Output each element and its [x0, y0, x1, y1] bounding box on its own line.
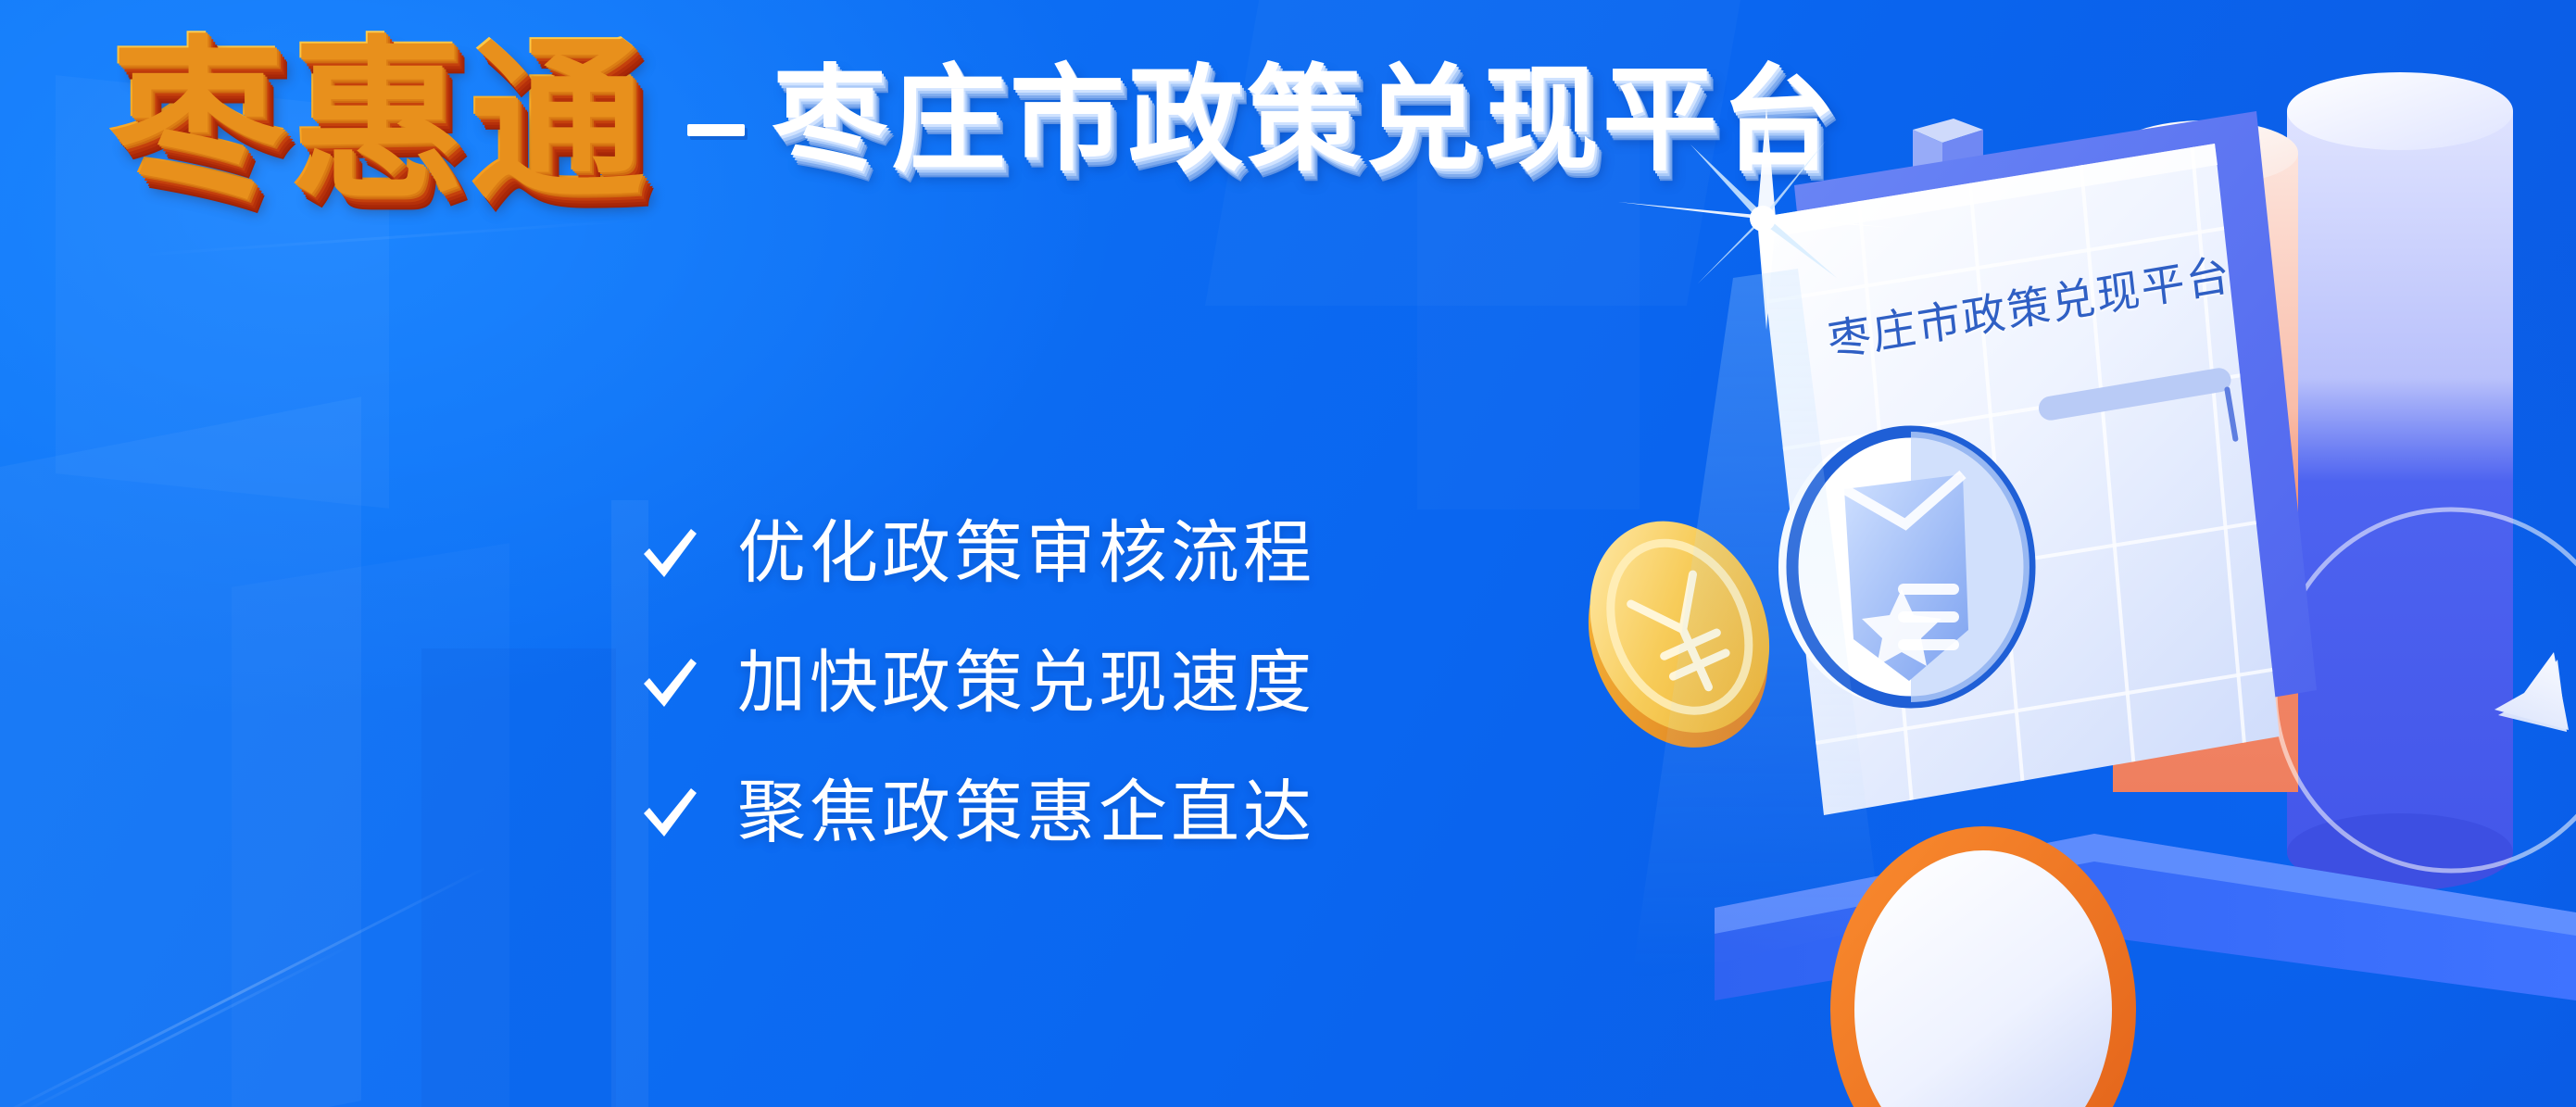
policy-platform-banner: 枣惠通 枣庄市政策兑现平台 优化政策审核流程 加快政策兑现速度 聚焦政策惠企直达 — [0, 0, 2576, 1107]
brand-title-text: 枣惠通 — [109, 19, 648, 221]
background-shape — [421, 648, 616, 1107]
background-light-streak — [131, 218, 648, 257]
title-separator-dash — [687, 124, 745, 136]
background-shape — [232, 543, 509, 1107]
list-item: 加快政策兑现速度 — [639, 648, 1315, 717]
illustration-graphic — [1576, 0, 2576, 1107]
list-item-label: 优化政策审核流程 — [737, 519, 1315, 587]
background-shape — [0, 396, 361, 1107]
feature-list: 优化政策审核流程 加快政策兑现速度 聚焦政策惠企直达 — [639, 519, 1315, 847]
background-light-streak — [2, 945, 350, 1107]
list-item-label: 聚焦政策惠企直达 — [737, 778, 1315, 847]
platform-illustration: 枣庄市政策兑现平台 — [1576, 0, 2576, 1107]
check-icon — [639, 783, 698, 842]
list-item-label: 加快政策兑现速度 — [737, 648, 1315, 717]
brand-title: 枣惠通 — [109, 33, 648, 208]
list-item: 优化政策审核流程 — [639, 519, 1315, 587]
check-icon — [639, 653, 698, 712]
list-item: 聚焦政策惠企直达 — [639, 778, 1315, 847]
background-light-streak — [0, 865, 488, 1107]
orange-ring — [1842, 838, 2124, 1107]
bar-cylinder-blue — [2287, 72, 2513, 891]
check-icon — [639, 523, 698, 583]
